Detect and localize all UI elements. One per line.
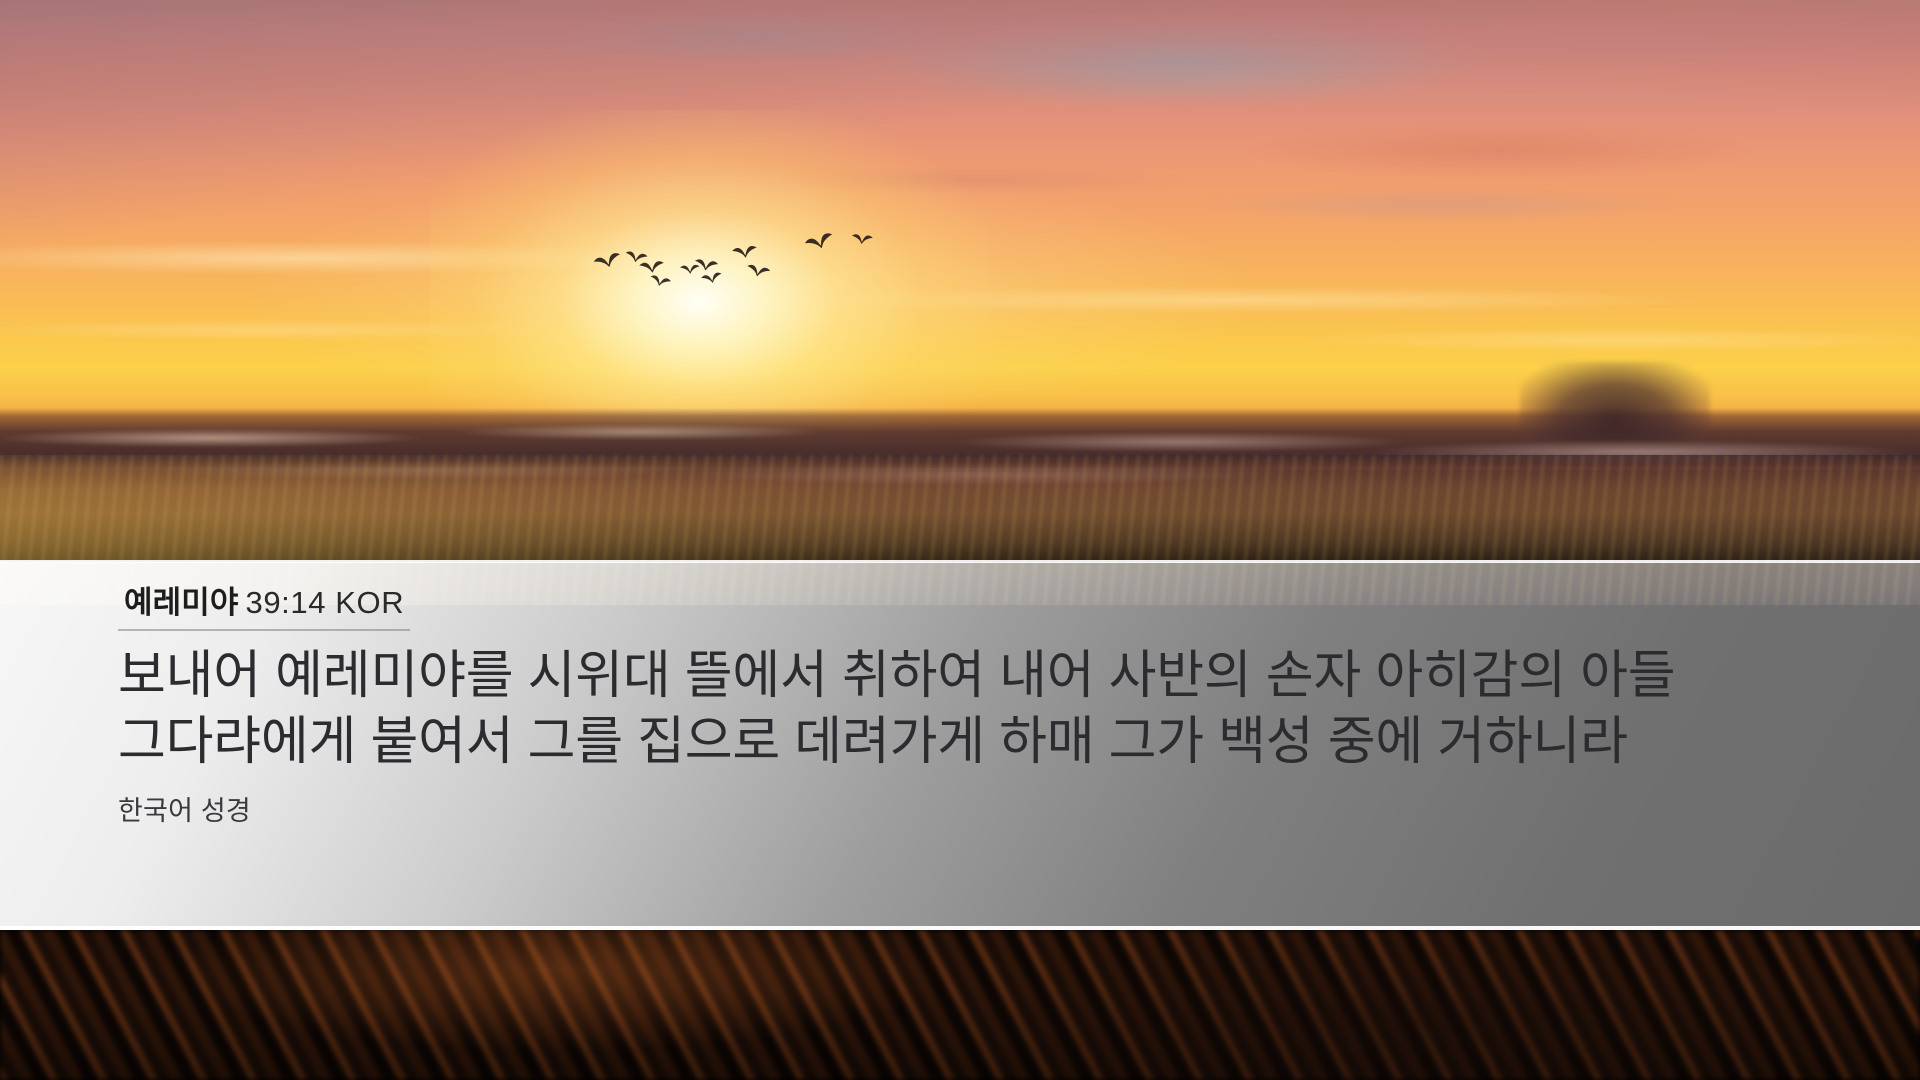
lower-beach-shading [0, 930, 1920, 1080]
bird-silhouette-4 [649, 275, 671, 289]
bird-silhouette-2 [624, 251, 647, 264]
bird-silhouette-7 [701, 272, 723, 285]
bible-version-label: 한국어 성경 [118, 793, 1878, 829]
bird-silhouette-8 [732, 245, 758, 259]
verse-image-canvas: 예레미야39:14 KOR 보내어 예레미야를 시위대 뜰에서 취하여 내어 사… [0, 0, 1920, 1080]
verse-text-block: 예레미야39:14 KOR 보내어 예레미야를 시위대 뜰에서 취하여 내어 사… [118, 580, 1878, 829]
chapter-verse-number: 39:14 [245, 585, 326, 620]
verse-reference-book: 예레미야 [124, 585, 238, 620]
translation-code: KOR [335, 585, 404, 620]
verse-body-text: 보내어 예레미야를 시위대 뜰에서 취하여 내어 사반의 손자 아히감의 아들 … [118, 643, 1878, 775]
bird-silhouette-10 [804, 232, 835, 253]
bird-silhouette-5 [680, 265, 700, 275]
bird-silhouette-1 [593, 252, 623, 271]
bird-silhouette-9 [746, 264, 771, 279]
bird-silhouette-3 [639, 261, 665, 274]
verse-reference-chapter-verse: 39:14 KOR [245, 585, 404, 620]
panel-bottom-border [0, 926, 1920, 930]
verse-reference: 예레미야39:14 KOR [118, 580, 410, 631]
bird-silhouette-11 [851, 234, 873, 245]
